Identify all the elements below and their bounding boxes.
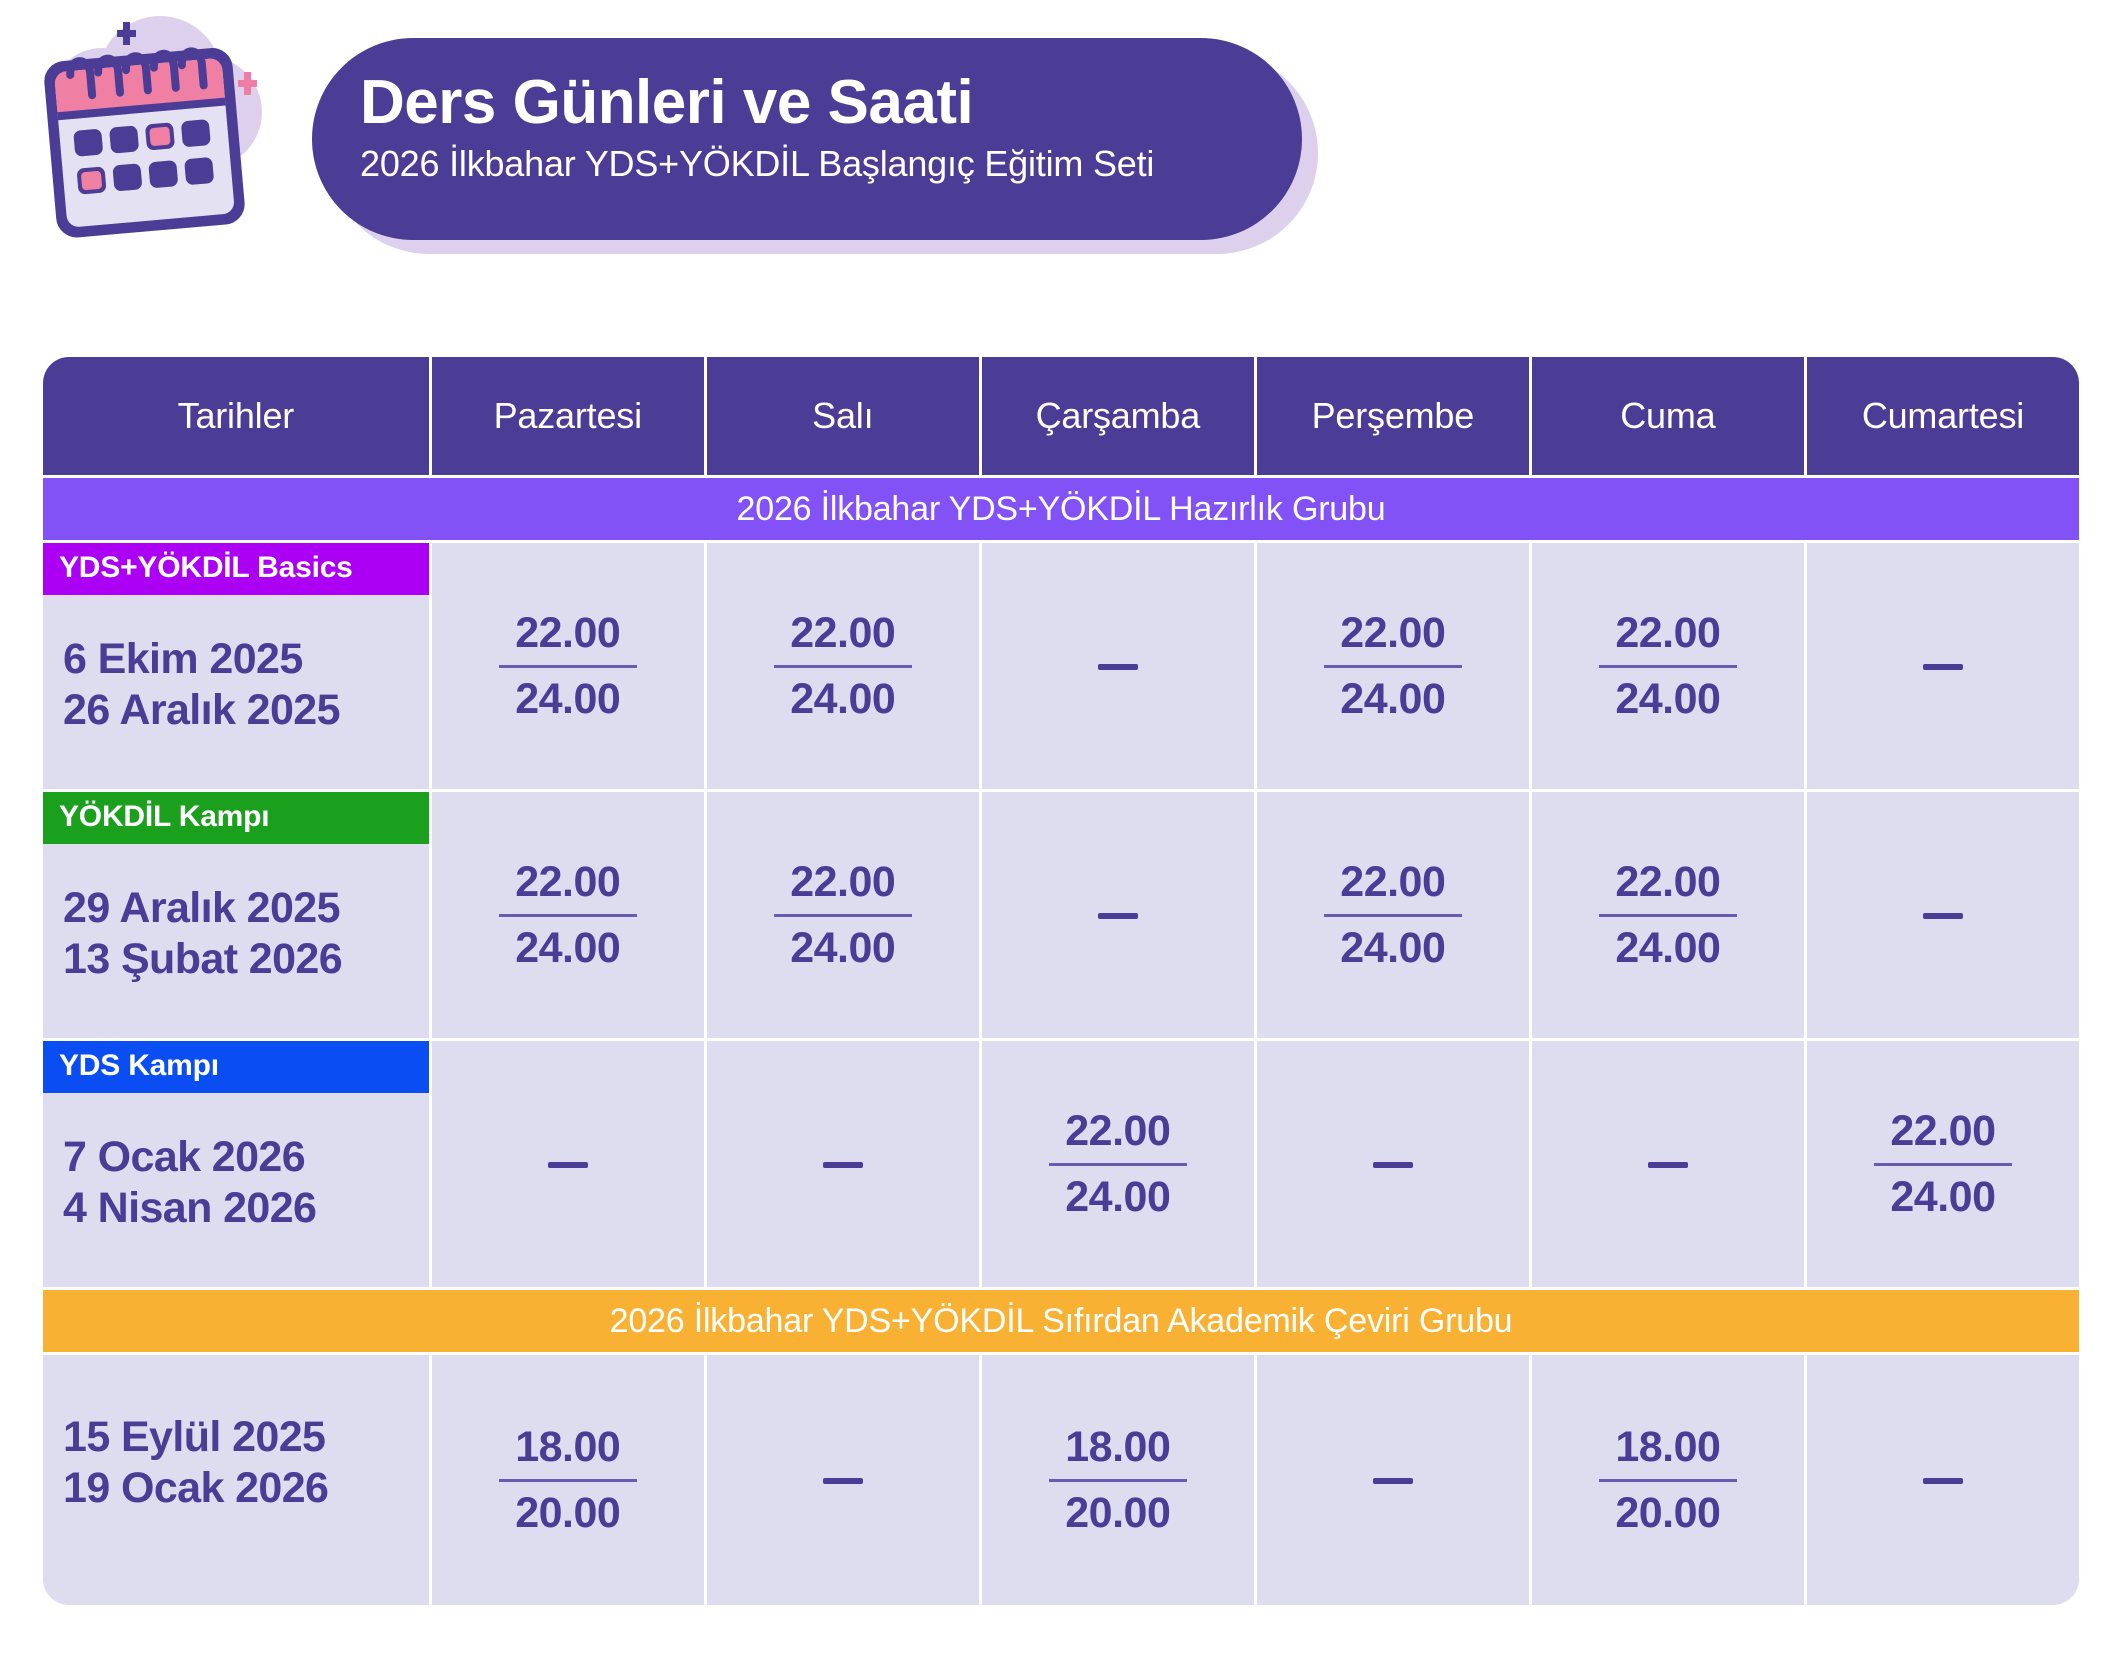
time-end: 24.00 bbox=[515, 923, 620, 974]
date-end: 26 Aralık 2025 bbox=[63, 685, 340, 736]
time-divider bbox=[499, 1479, 637, 1482]
time-fraction: 22.00 24.00 bbox=[1599, 608, 1737, 724]
date-start: 29 Aralık 2025 bbox=[63, 883, 340, 934]
time-divider bbox=[1599, 914, 1737, 917]
time-end: 20.00 bbox=[515, 1488, 620, 1539]
time-start: 22.00 bbox=[1340, 608, 1445, 659]
time-cell-pazartesi: 18.00 20.00 bbox=[432, 1355, 704, 1605]
column-header-pazartesi: Pazartesi bbox=[432, 357, 704, 475]
empty-dash-icon bbox=[823, 1478, 863, 1484]
time-cell-carsamba: 18.00 20.00 bbox=[982, 1355, 1254, 1605]
time-fraction: 22.00 24.00 bbox=[774, 857, 912, 973]
time-fraction: 22.00 24.00 bbox=[1599, 857, 1737, 973]
date-cell: 15 Eylül 2025 19 Ocak 2026 bbox=[43, 1355, 429, 1605]
empty-dash-icon bbox=[1648, 1162, 1688, 1168]
empty-dash-icon bbox=[1098, 913, 1138, 919]
empty-dash-icon bbox=[823, 1162, 863, 1168]
date-start: 15 Eylül 2025 bbox=[63, 1412, 325, 1463]
time-end: 24.00 bbox=[1065, 1172, 1170, 1223]
time-start: 18.00 bbox=[1615, 1422, 1720, 1473]
schedule-table-wrapper: Tarihler Pazartesi Salı Çarşamba Perşemb… bbox=[40, 354, 2082, 1608]
time-end: 24.00 bbox=[1615, 674, 1720, 725]
time-start: 22.00 bbox=[1615, 857, 1720, 908]
time-fraction: 22.00 24.00 bbox=[1324, 857, 1462, 973]
empty-dash-icon bbox=[1923, 913, 1963, 919]
time-fraction: 18.00 20.00 bbox=[1049, 1422, 1187, 1538]
table-row: 15 Eylül 2025 19 Ocak 2026 18.00 20.00 bbox=[43, 1355, 2079, 1605]
empty-dash-icon bbox=[1923, 664, 1963, 670]
date-range: 7 Ocak 2026 4 Nisan 2026 bbox=[43, 1093, 429, 1273]
schedule-table: Tarihler Pazartesi Salı Çarşamba Perşemb… bbox=[40, 354, 2082, 1608]
time-cell-persembe bbox=[1257, 1041, 1529, 1287]
time-end: 24.00 bbox=[790, 674, 895, 725]
time-cell-persembe: 22.00 24.00 bbox=[1257, 792, 1529, 1038]
time-start: 22.00 bbox=[1615, 608, 1720, 659]
time-start: 18.00 bbox=[1065, 1422, 1170, 1473]
time-start: 22.00 bbox=[1065, 1106, 1170, 1157]
table-row: YDS+YÖKDİL Basics 6 Ekim 2025 26 Aralık … bbox=[43, 543, 2079, 789]
time-end: 24.00 bbox=[1340, 923, 1445, 974]
schedule-poster: Ders Günleri ve Saati 2026 İlkbahar YDS+… bbox=[0, 0, 2122, 1679]
time-start: 22.00 bbox=[1340, 857, 1445, 908]
column-header-cuma: Cuma bbox=[1532, 357, 1804, 475]
time-cell-pazartesi: 22.00 24.00 bbox=[432, 792, 704, 1038]
date-cell: YDS+YÖKDİL Basics 6 Ekim 2025 26 Aralık … bbox=[43, 543, 429, 789]
section-band-row: 2026 İlkbahar YDS+YÖKDİL Sıfırdan Akadem… bbox=[43, 1290, 2079, 1352]
calendar-icon bbox=[10, 8, 340, 238]
time-cell-cuma: 18.00 20.00 bbox=[1532, 1355, 1804, 1605]
section-band-hazirlik-grubu: 2026 İlkbahar YDS+YÖKDİL Hazırlık Grubu bbox=[43, 478, 2079, 540]
empty-dash-icon bbox=[1098, 664, 1138, 670]
time-divider bbox=[499, 665, 637, 668]
time-fraction: 22.00 24.00 bbox=[1049, 1106, 1187, 1222]
time-fraction: 22.00 24.00 bbox=[499, 857, 637, 973]
time-divider bbox=[1049, 1163, 1187, 1166]
section-band-row: 2026 İlkbahar YDS+YÖKDİL Hazırlık Grubu bbox=[43, 478, 2079, 540]
time-cell-carsamba bbox=[982, 543, 1254, 789]
time-start: 22.00 bbox=[515, 608, 620, 659]
time-start: 22.00 bbox=[790, 608, 895, 659]
time-end: 24.00 bbox=[790, 923, 895, 974]
time-divider bbox=[774, 914, 912, 917]
table-head: Tarihler Pazartesi Salı Çarşamba Perşemb… bbox=[43, 357, 2079, 475]
time-divider bbox=[1049, 1479, 1187, 1482]
time-end: 20.00 bbox=[1615, 1488, 1720, 1539]
time-divider bbox=[1599, 1479, 1737, 1482]
time-cell-cuma: 22.00 24.00 bbox=[1532, 543, 1804, 789]
section-band-akademik-ceviri-grubu: 2026 İlkbahar YDS+YÖKDİL Sıfırdan Akadem… bbox=[43, 1290, 2079, 1352]
time-cell-cumartesi bbox=[1807, 1355, 2079, 1605]
date-range: 29 Aralık 2025 13 Şubat 2026 bbox=[43, 844, 429, 1024]
time-cell-cumartesi: 22.00 24.00 bbox=[1807, 1041, 2079, 1287]
time-cell-cumartesi bbox=[1807, 543, 2079, 789]
table-body: 2026 İlkbahar YDS+YÖKDİL Hazırlık Grubu … bbox=[43, 478, 2079, 1605]
date-cell: YÖKDİL Kampı 29 Aralık 2025 13 Şubat 202… bbox=[43, 792, 429, 1038]
table-row: YDS Kampı 7 Ocak 2026 4 Nisan 2026 bbox=[43, 1041, 2079, 1287]
status-badge: YÖKDİL Kampı bbox=[43, 792, 429, 844]
column-header-sali: Salı bbox=[707, 357, 979, 475]
time-cell-persembe bbox=[1257, 1355, 1529, 1605]
time-end: 20.00 bbox=[1065, 1488, 1170, 1539]
table-row: YÖKDİL Kampı 29 Aralık 2025 13 Şubat 202… bbox=[43, 792, 2079, 1038]
time-start: 22.00 bbox=[515, 857, 620, 908]
time-cell-sali: 22.00 24.00 bbox=[707, 543, 979, 789]
date-end: 13 Şubat 2026 bbox=[63, 934, 342, 985]
time-divider bbox=[774, 665, 912, 668]
time-cell-persembe: 22.00 24.00 bbox=[1257, 543, 1529, 789]
column-header-carsamba: Çarşamba bbox=[982, 357, 1254, 475]
time-start: 22.00 bbox=[1890, 1106, 1995, 1157]
time-cell-carsamba bbox=[982, 792, 1254, 1038]
time-cell-cuma: 22.00 24.00 bbox=[1532, 792, 1804, 1038]
time-start: 18.00 bbox=[515, 1422, 620, 1473]
column-header-cumartesi: Cumartesi bbox=[1807, 357, 2079, 475]
page-title: Ders Günleri ve Saati bbox=[360, 68, 1280, 137]
time-divider bbox=[499, 914, 637, 917]
time-fraction: 22.00 24.00 bbox=[774, 608, 912, 724]
time-fraction: 22.00 24.00 bbox=[1324, 608, 1462, 724]
time-cell-pazartesi: 22.00 24.00 bbox=[432, 543, 704, 789]
empty-dash-icon bbox=[1373, 1478, 1413, 1484]
time-fraction: 18.00 20.00 bbox=[499, 1422, 637, 1538]
status-badge: YDS Kampı bbox=[43, 1041, 429, 1093]
time-cell-carsamba: 22.00 24.00 bbox=[982, 1041, 1254, 1287]
time-start: 22.00 bbox=[790, 857, 895, 908]
poster-header: Ders Günleri ve Saati 2026 İlkbahar YDS+… bbox=[0, 0, 1360, 300]
status-badge bbox=[43, 1355, 429, 1373]
date-start: 6 Ekim 2025 bbox=[63, 634, 303, 685]
time-cell-pazartesi bbox=[432, 1041, 704, 1287]
column-header-tarihler: Tarihler bbox=[43, 357, 429, 475]
time-divider bbox=[1324, 665, 1462, 668]
time-end: 24.00 bbox=[515, 674, 620, 725]
date-range: 15 Eylül 2025 19 Ocak 2026 bbox=[43, 1373, 429, 1553]
time-fraction: 18.00 20.00 bbox=[1599, 1422, 1737, 1538]
column-header-persembe: Perşembe bbox=[1257, 357, 1529, 475]
status-badge: YDS+YÖKDİL Basics bbox=[43, 543, 429, 595]
empty-dash-icon bbox=[1373, 1162, 1413, 1168]
time-cell-sali bbox=[707, 1041, 979, 1287]
date-end: 19 Ocak 2026 bbox=[63, 1463, 328, 1514]
time-divider bbox=[1324, 914, 1462, 917]
time-fraction: 22.00 24.00 bbox=[499, 608, 637, 724]
time-fraction: 22.00 24.00 bbox=[1874, 1106, 2012, 1222]
time-cell-sali: 22.00 24.00 bbox=[707, 792, 979, 1038]
empty-dash-icon bbox=[548, 1162, 588, 1168]
date-end: 4 Nisan 2026 bbox=[63, 1183, 316, 1234]
date-cell: YDS Kampı 7 Ocak 2026 4 Nisan 2026 bbox=[43, 1041, 429, 1287]
header-text-block: Ders Günleri ve Saati 2026 İlkbahar YDS+… bbox=[360, 68, 1280, 185]
time-end: 24.00 bbox=[1890, 1172, 1995, 1223]
page-subtitle: 2026 İlkbahar YDS+YÖKDİL Başlangıç Eğiti… bbox=[360, 143, 1280, 185]
table-header-row: Tarihler Pazartesi Salı Çarşamba Perşemb… bbox=[43, 357, 2079, 475]
time-end: 24.00 bbox=[1615, 923, 1720, 974]
time-divider bbox=[1599, 665, 1737, 668]
time-cell-cuma bbox=[1532, 1041, 1804, 1287]
date-range: 6 Ekim 2025 26 Aralık 2025 bbox=[43, 595, 429, 775]
time-end: 24.00 bbox=[1340, 674, 1445, 725]
time-cell-cumartesi bbox=[1807, 792, 2079, 1038]
date-start: 7 Ocak 2026 bbox=[63, 1132, 305, 1183]
empty-dash-icon bbox=[1923, 1478, 1963, 1484]
time-divider bbox=[1874, 1163, 2012, 1166]
time-cell-sali bbox=[707, 1355, 979, 1605]
